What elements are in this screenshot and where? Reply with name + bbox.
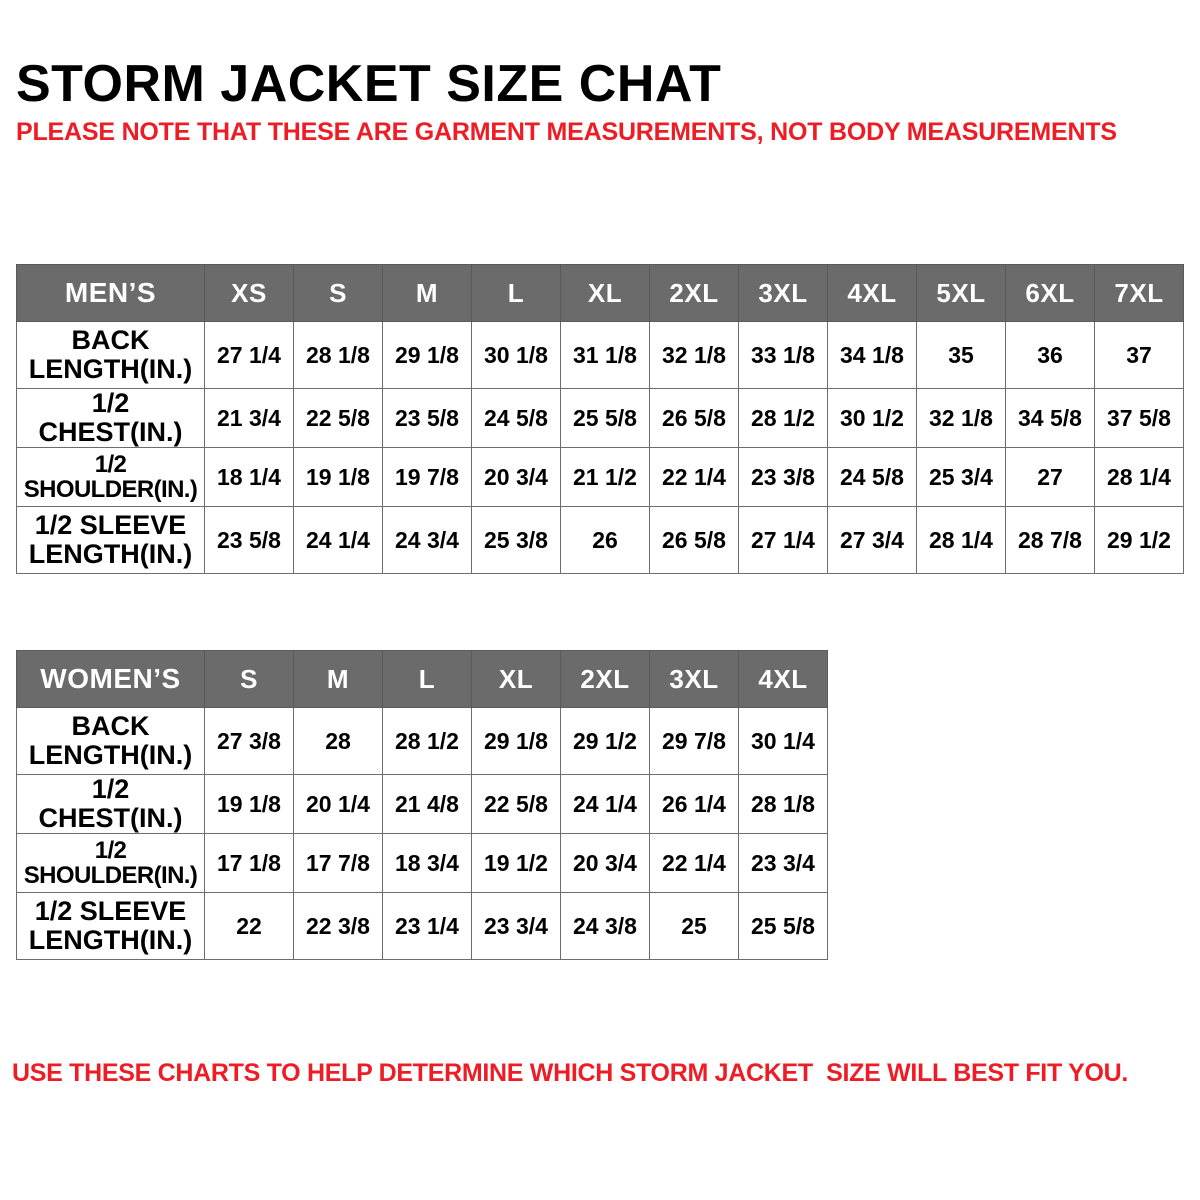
measurement-cell: 27: [1006, 448, 1095, 507]
measurement-cell: 19 7/8: [383, 448, 472, 507]
table-row: 1/2 SHOULDER(IN.)18 1/419 1/819 7/820 3/…: [17, 448, 1184, 507]
measurement-cell: 24 3/4: [383, 507, 472, 574]
mens-size-header-5xl: 5XL: [917, 265, 1006, 322]
measurement-cell: 27 3/8: [205, 708, 294, 775]
mens-row-label-3: 1/2 SLEEVE LENGTH(IN.): [17, 507, 205, 574]
measurement-cell: 23 5/8: [383, 389, 472, 448]
measurement-cell: 24 5/8: [828, 448, 917, 507]
measurement-cell: 37: [1095, 322, 1184, 389]
measurement-cell: 18 3/4: [383, 834, 472, 893]
mens-size-header-4xl: 4XL: [828, 265, 917, 322]
womens-row-label-0: BACK LENGTH(IN.): [17, 708, 205, 775]
garment-measurement-note: PLEASE NOTE THAT THESE ARE GARMENT MEASU…: [16, 116, 1136, 149]
mens-table-body: BACK LENGTH(IN.)27 1/428 1/829 1/830 1/8…: [17, 322, 1184, 574]
womens-size-header-4xl: 4XL: [739, 651, 828, 708]
measurement-cell: 21 3/4: [205, 389, 294, 448]
measurement-cell: 36: [1006, 322, 1095, 389]
measurement-cell: 22 5/8: [294, 389, 383, 448]
measurement-cell: 26 5/8: [650, 507, 739, 574]
measurement-cell: 22 5/8: [472, 775, 561, 834]
measurement-cell: 23 1/4: [383, 893, 472, 960]
measurement-cell: 19 1/8: [294, 448, 383, 507]
measurement-cell: 29 1/8: [472, 708, 561, 775]
mens-row-label-1: 1/2 CHEST(IN.): [17, 389, 205, 448]
womens-size-table: WOMEN’SSMLXL2XL3XL4XL BACK LENGTH(IN.)27…: [16, 650, 828, 960]
measurement-cell: 22 1/4: [650, 834, 739, 893]
page-title: STORM JACKET SIZE CHAT: [16, 57, 721, 112]
measurement-cell: 28 1/8: [739, 775, 828, 834]
measurement-cell: 29 1/8: [383, 322, 472, 389]
table-row: 1/2 SLEEVE LENGTH(IN.)23 5/824 1/424 3/4…: [17, 507, 1184, 574]
measurement-cell: 26: [561, 507, 650, 574]
measurement-cell: 34 1/8: [828, 322, 917, 389]
measurement-cell: 20 1/4: [294, 775, 383, 834]
measurement-cell: 23 3/4: [472, 893, 561, 960]
measurement-cell: 18 1/4: [205, 448, 294, 507]
measurement-cell: 30 1/2: [828, 389, 917, 448]
table-row: 1/2 CHEST(IN.)19 1/820 1/421 4/822 5/824…: [17, 775, 828, 834]
measurement-cell: 17 7/8: [294, 834, 383, 893]
mens-size-table: MEN’SXSSMLXL2XL3XL4XL5XL6XL7XL BACK LENG…: [16, 264, 1184, 574]
measurement-cell: 32 1/8: [650, 322, 739, 389]
measurement-cell: 29 7/8: [650, 708, 739, 775]
measurement-cell: 30 1/8: [472, 322, 561, 389]
womens-size-header-xl: XL: [472, 651, 561, 708]
womens-table-body: BACK LENGTH(IN.)27 3/82828 1/229 1/829 1…: [17, 708, 828, 960]
measurement-cell: 20 3/4: [561, 834, 650, 893]
measurement-cell: 26 1/4: [650, 775, 739, 834]
measurement-cell: 35: [917, 322, 1006, 389]
womens-corner-header: WOMEN’S: [17, 651, 205, 708]
measurement-cell: 28 1/2: [739, 389, 828, 448]
womens-size-header-l: L: [383, 651, 472, 708]
measurement-cell: 25 3/8: [472, 507, 561, 574]
womens-row-label-2: 1/2 SHOULDER(IN.): [17, 834, 205, 893]
mens-size-header-7xl: 7XL: [1095, 265, 1184, 322]
measurement-cell: 29 1/2: [561, 708, 650, 775]
womens-size-header-s: S: [205, 651, 294, 708]
womens-size-header-3xl: 3XL: [650, 651, 739, 708]
mens-size-header-6xl: 6XL: [1006, 265, 1095, 322]
mens-header-row: MEN’SXSSMLXL2XL3XL4XL5XL6XL7XL: [17, 265, 1184, 322]
mens-size-header-xs: XS: [205, 265, 294, 322]
measurement-cell: 28: [294, 708, 383, 775]
measurement-cell: 17 1/8: [205, 834, 294, 893]
mens-row-label-2: 1/2 SHOULDER(IN.): [17, 448, 205, 507]
mens-table-head: MEN’SXSSMLXL2XL3XL4XL5XL6XL7XL: [17, 265, 1184, 322]
measurement-cell: 24 1/4: [294, 507, 383, 574]
measurement-cell: 20 3/4: [472, 448, 561, 507]
measurement-cell: 27 3/4: [828, 507, 917, 574]
womens-size-header-2xl: 2XL: [561, 651, 650, 708]
measurement-cell: 37 5/8: [1095, 389, 1184, 448]
mens-row-label-0: BACK LENGTH(IN.): [17, 322, 205, 389]
table-row: 1/2 CHEST(IN.)21 3/422 5/823 5/824 5/825…: [17, 389, 1184, 448]
measurement-cell: 25 5/8: [739, 893, 828, 960]
table-row: 1/2 SHOULDER(IN.)17 1/817 7/818 3/419 1/…: [17, 834, 828, 893]
measurement-cell: 25: [650, 893, 739, 960]
mens-size-header-xl: XL: [561, 265, 650, 322]
measurement-cell: 26 5/8: [650, 389, 739, 448]
measurement-cell: 28 1/8: [294, 322, 383, 389]
table-row: BACK LENGTH(IN.)27 1/428 1/829 1/830 1/8…: [17, 322, 1184, 389]
measurement-cell: 28 1/4: [917, 507, 1006, 574]
measurement-cell: 27 1/4: [739, 507, 828, 574]
measurement-cell: 22 3/8: [294, 893, 383, 960]
measurement-cell: 28 1/2: [383, 708, 472, 775]
measurement-cell: 32 1/8: [917, 389, 1006, 448]
measurement-cell: 21 1/2: [561, 448, 650, 507]
measurement-cell: 31 1/8: [561, 322, 650, 389]
measurement-cell: 24 5/8: [472, 389, 561, 448]
measurement-cell: 25 3/4: [917, 448, 1006, 507]
mens-size-header-3xl: 3XL: [739, 265, 828, 322]
womens-row-label-1: 1/2 CHEST(IN.): [17, 775, 205, 834]
measurement-cell: 29 1/2: [1095, 507, 1184, 574]
mens-size-header-l: L: [472, 265, 561, 322]
measurement-cell: 22: [205, 893, 294, 960]
mens-size-header-m: M: [383, 265, 472, 322]
measurement-cell: 34 5/8: [1006, 389, 1095, 448]
measurement-cell: 19 1/2: [472, 834, 561, 893]
measurement-cell: 25 5/8: [561, 389, 650, 448]
measurement-cell: 23 3/4: [739, 834, 828, 893]
table-row: BACK LENGTH(IN.)27 3/82828 1/229 1/829 1…: [17, 708, 828, 775]
table-row: 1/2 SLEEVE LENGTH(IN.)2222 3/823 1/423 3…: [17, 893, 828, 960]
measurement-cell: 27 1/4: [205, 322, 294, 389]
measurement-cell: 28 1/4: [1095, 448, 1184, 507]
measurement-cell: 23 5/8: [205, 507, 294, 574]
womens-size-header-m: M: [294, 651, 383, 708]
mens-corner-header: MEN’S: [17, 265, 205, 322]
measurement-cell: 24 3/8: [561, 893, 650, 960]
measurement-cell: 22 1/4: [650, 448, 739, 507]
footer-help-note: USE THESE CHARTS TO HELP DETERMINE WHICH…: [12, 1057, 1192, 1090]
measurement-cell: 19 1/8: [205, 775, 294, 834]
measurement-cell: 24 1/4: [561, 775, 650, 834]
measurement-cell: 30 1/4: [739, 708, 828, 775]
mens-size-header-2xl: 2XL: [650, 265, 739, 322]
mens-size-header-s: S: [294, 265, 383, 322]
womens-header-row: WOMEN’SSMLXL2XL3XL4XL: [17, 651, 828, 708]
womens-table-head: WOMEN’SSMLXL2XL3XL4XL: [17, 651, 828, 708]
measurement-cell: 21 4/8: [383, 775, 472, 834]
measurement-cell: 33 1/8: [739, 322, 828, 389]
measurement-cell: 28 7/8: [1006, 507, 1095, 574]
womens-row-label-3: 1/2 SLEEVE LENGTH(IN.): [17, 893, 205, 960]
measurement-cell: 23 3/8: [739, 448, 828, 507]
